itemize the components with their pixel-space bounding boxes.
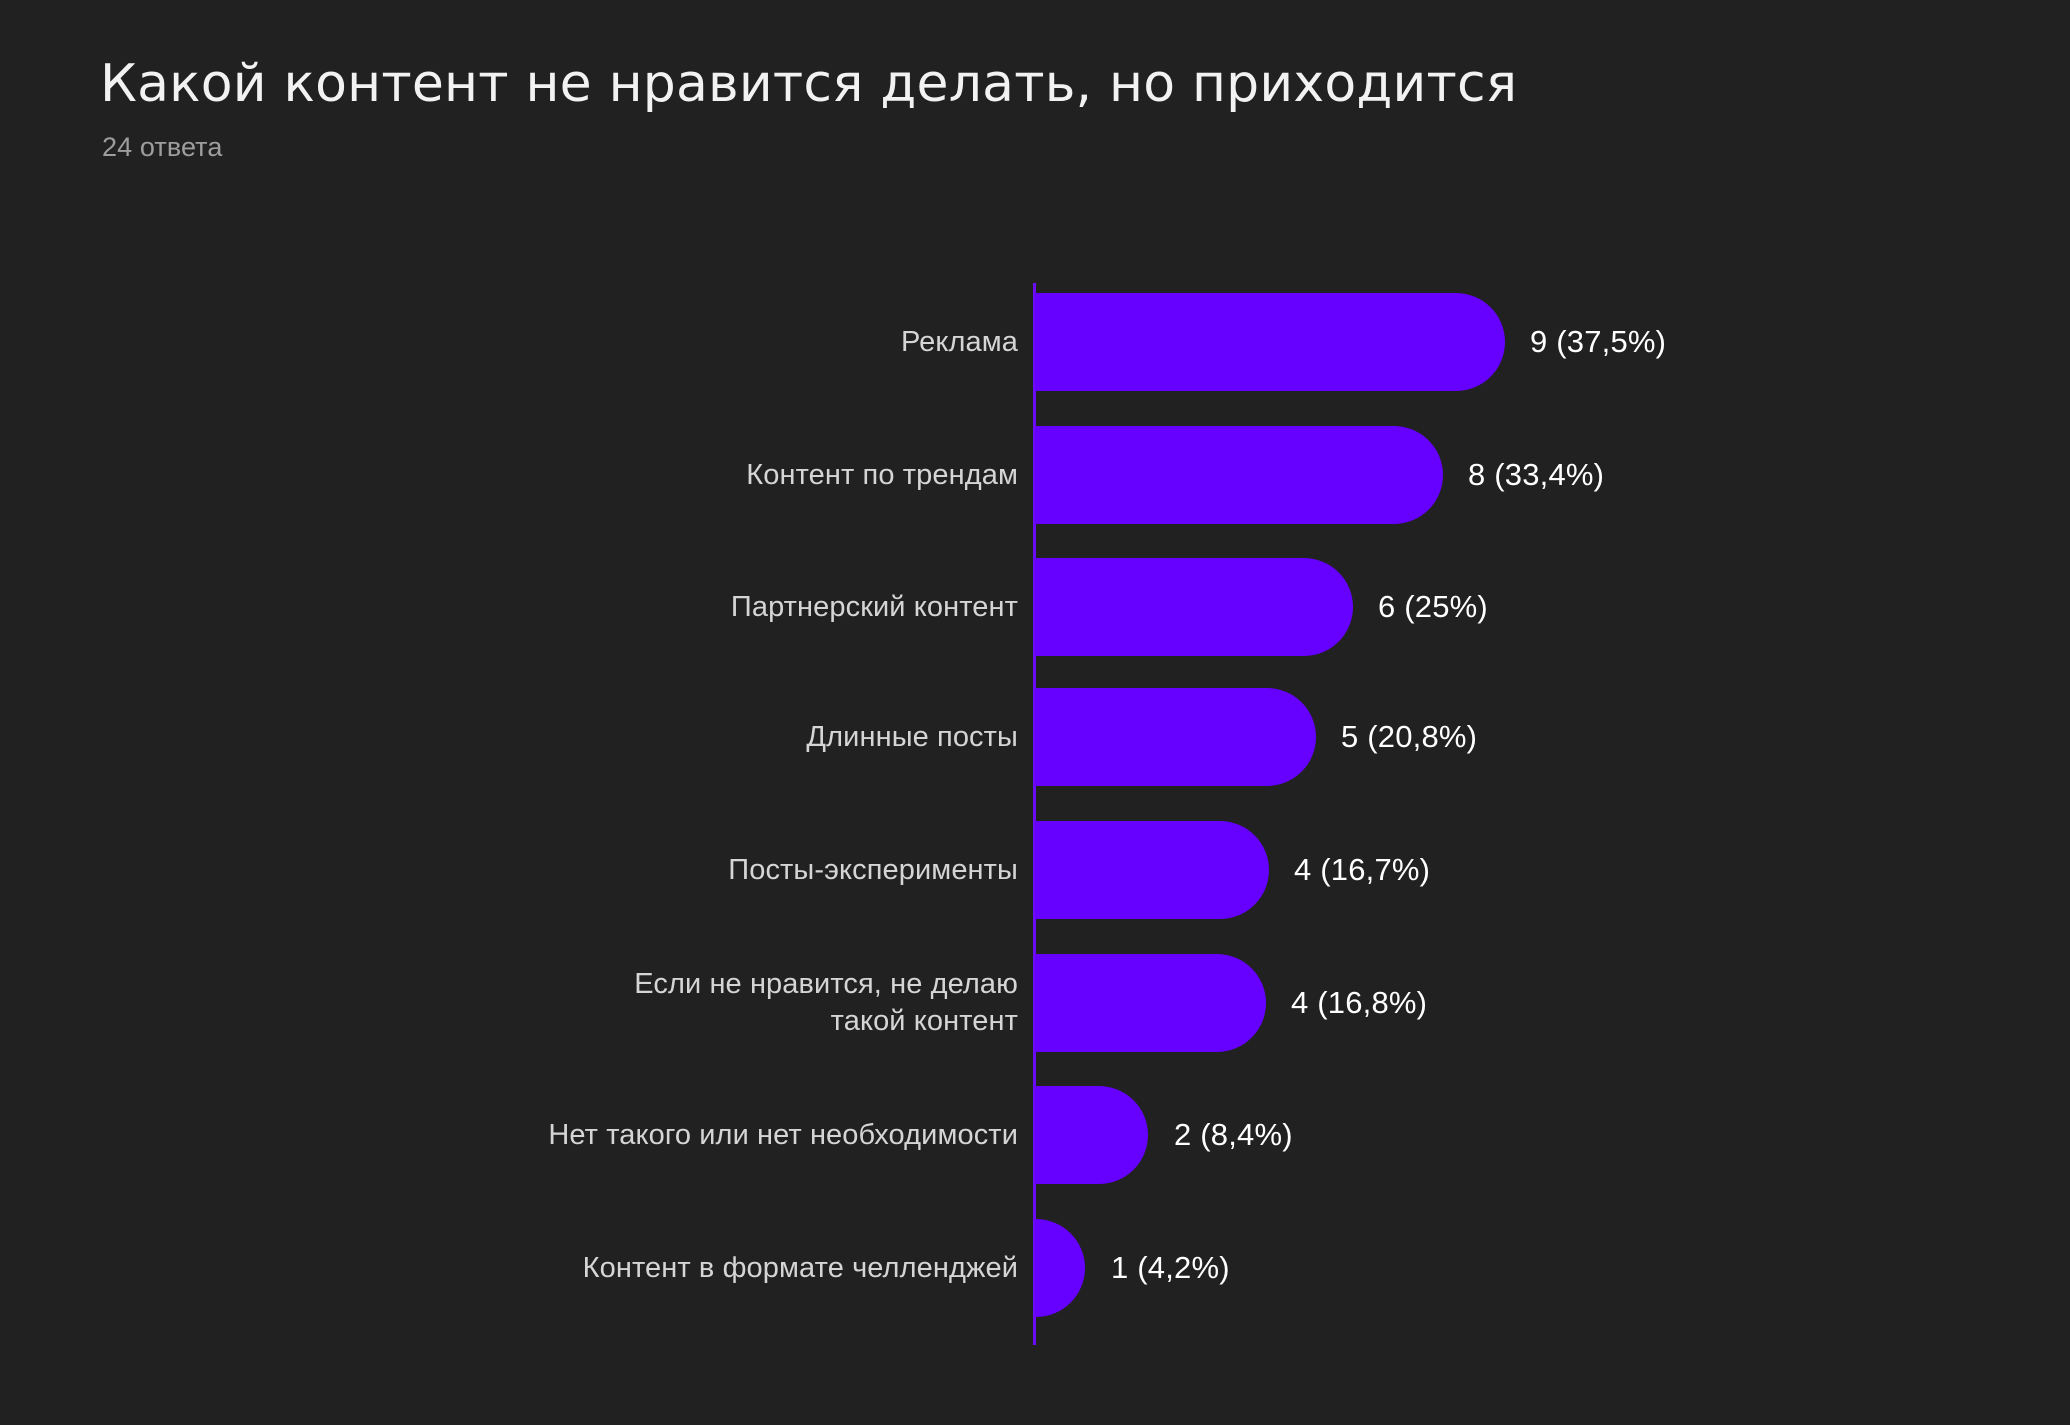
table-row: Партнерский контент 6 (25%) xyxy=(0,552,2070,662)
table-row: Длинные посты 5 (20,8%) xyxy=(0,682,2070,792)
table-row: Если не нравится, не делаю такой контент… xyxy=(0,948,2070,1058)
bar-segment[interactable] xyxy=(1035,688,1316,786)
chart-page: Какой контент не нравится делать, но при… xyxy=(0,0,2070,1425)
table-row: Контент в формате челленджей 1 (4,2%) xyxy=(0,1213,2070,1323)
bar-value-label: 5 (20,8%) xyxy=(1341,717,1477,757)
table-row: Реклама 9 (37,5%) xyxy=(0,287,2070,397)
bar-value-label: 8 (33,4%) xyxy=(1468,455,1604,495)
table-row: Посты-эксперименты 4 (16,7%) xyxy=(0,815,2070,925)
bar-value-label: 4 (16,8%) xyxy=(1291,983,1427,1023)
bar-value-label: 4 (16,7%) xyxy=(1294,850,1430,890)
bar-category-label: Посты-эксперименты xyxy=(118,852,1018,889)
bar-category-label: Реклама xyxy=(118,324,1018,361)
bar-value-label: 9 (37,5%) xyxy=(1530,322,1666,362)
bar-segment[interactable] xyxy=(1035,558,1353,656)
bar-segment[interactable] xyxy=(1035,293,1505,391)
bar-category-label: Если не нравится, не делаю такой контент xyxy=(118,966,1018,1040)
table-row: Нет такого или нет необходимости 2 (8,4%… xyxy=(0,1080,2070,1190)
bar-segment[interactable] xyxy=(1035,1219,1085,1317)
bar-segment[interactable] xyxy=(1035,954,1266,1052)
bar-segment[interactable] xyxy=(1035,821,1269,919)
bar-segment[interactable] xyxy=(1035,1086,1148,1184)
bar-category-label: Партнерский контент xyxy=(118,589,1018,626)
bar-value-label: 6 (25%) xyxy=(1378,587,1488,627)
bar-value-label: 2 (8,4%) xyxy=(1174,1115,1293,1155)
bar-category-label: Нет такого или нет необходимости xyxy=(118,1117,1018,1154)
bar-category-label: Контент в формате челленджей xyxy=(118,1250,1018,1287)
table-row: Контент по трендам 8 (33,4%) xyxy=(0,420,2070,530)
bar-category-label: Контент по трендам xyxy=(118,457,1018,494)
bar-category-label: Длинные посты xyxy=(118,719,1018,756)
horizontal-bar-chart: Реклама 9 (37,5%) Контент по трендам 8 (… xyxy=(0,0,2070,1425)
bar-value-label: 1 (4,2%) xyxy=(1111,1248,1230,1288)
bar-segment[interactable] xyxy=(1035,426,1443,524)
